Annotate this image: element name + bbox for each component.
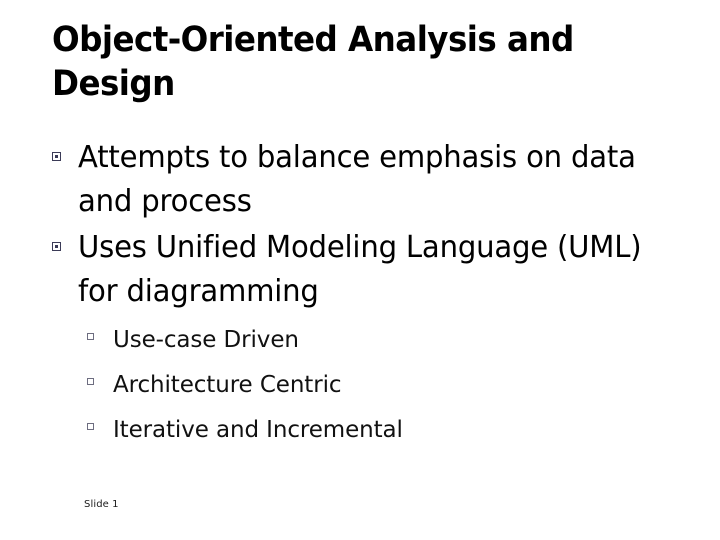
list-item[interactable]: Uses Unified Modeling Language (UML) for… (52, 226, 702, 314)
list-item-label: Iterative and Incremental (113, 408, 403, 453)
list-item-label: Uses Unified Modeling Language (UML) for… (78, 226, 683, 314)
bullet-list: Attempts to balance emphasis on data and… (52, 136, 702, 453)
list-item-label: Attempts to balance emphasis on data and… (78, 136, 683, 224)
slide-number-footer: Slide 1 (84, 498, 119, 512)
list-item[interactable]: Architecture Centric (52, 363, 702, 408)
list-item[interactable]: Attempts to balance emphasis on data and… (52, 136, 702, 224)
list-item[interactable]: Iterative and Incremental (52, 408, 702, 453)
list-item-label: Architecture Centric (113, 363, 341, 408)
sub-bullet-list: Use-case Driven Architecture Centric Ite… (52, 318, 702, 453)
list-item-label: Use-case Driven (113, 318, 299, 363)
presentation-slide: Object-Oriented Analysis and Design Atte… (0, 0, 720, 540)
list-item[interactable]: Use-case Driven (52, 318, 702, 363)
page-title: Object-Oriented Analysis and Design (52, 18, 610, 106)
checkbox-square-bullet-icon (52, 226, 78, 251)
hollow-square-bullet-icon (52, 408, 113, 430)
checkbox-square-bullet-icon (52, 136, 78, 161)
hollow-square-bullet-icon (52, 318, 113, 340)
hollow-square-bullet-icon (52, 363, 113, 385)
